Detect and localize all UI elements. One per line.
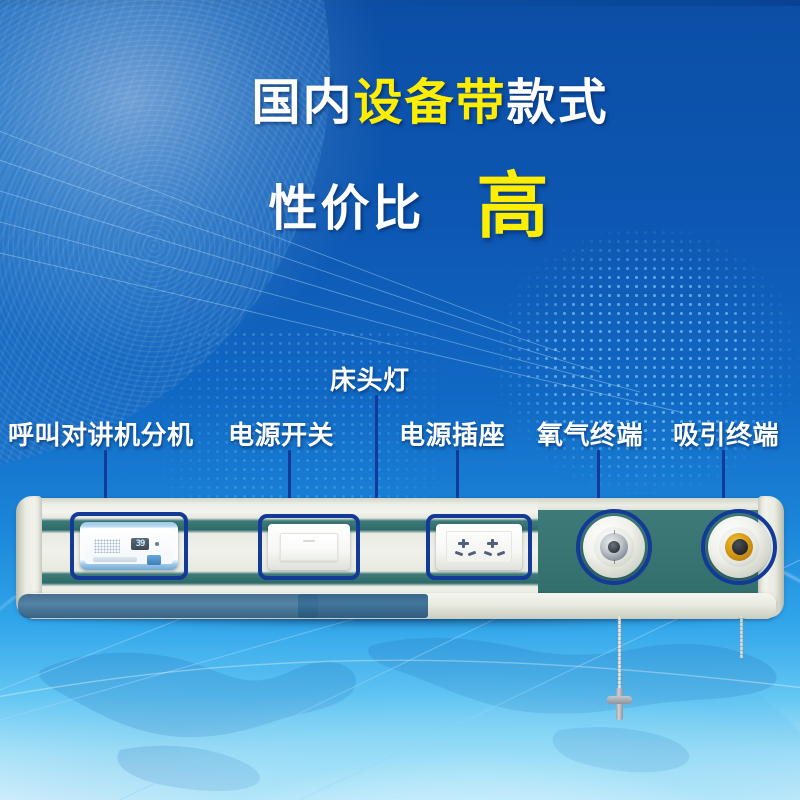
callout-layer: 呼叫对讲机分机 电源开关 床头灯 电源插座 氧气终端 吸引终端 bbox=[0, 0, 800, 800]
highlight-power-switch bbox=[258, 514, 360, 580]
bed-head-unit-panel: 39 bbox=[18, 498, 782, 628]
connector-vertical bbox=[616, 688, 623, 720]
callout-label-power-switch: 电源开关 bbox=[228, 415, 334, 452]
callout-label-oxygen-terminal: 氧气终端 bbox=[537, 415, 643, 452]
highlight-call-intercom bbox=[70, 512, 188, 580]
callout-label-call-intercom: 呼叫对讲机分机 bbox=[8, 415, 194, 452]
pull-cord-texture bbox=[616, 620, 623, 690]
panel-rail-blue-left bbox=[18, 594, 318, 618]
connector-horizontal bbox=[607, 696, 632, 704]
callout-label-power-socket: 电源插座 bbox=[399, 415, 505, 452]
highlight-suction-terminal bbox=[701, 509, 777, 585]
highlight-power-socket bbox=[426, 514, 532, 580]
pull-cord-secondary-texture bbox=[738, 618, 745, 658]
cord-cross-connector-icon[interactable] bbox=[607, 688, 632, 720]
panel-rail-blue-center bbox=[298, 594, 428, 618]
panel-teal-top-edge bbox=[538, 498, 782, 510]
highlight-oxygen-terminal bbox=[576, 509, 652, 585]
callout-label-bed-lamp: 床头灯 bbox=[330, 360, 410, 397]
callout-label-suction-terminal: 吸引终端 bbox=[673, 415, 779, 452]
